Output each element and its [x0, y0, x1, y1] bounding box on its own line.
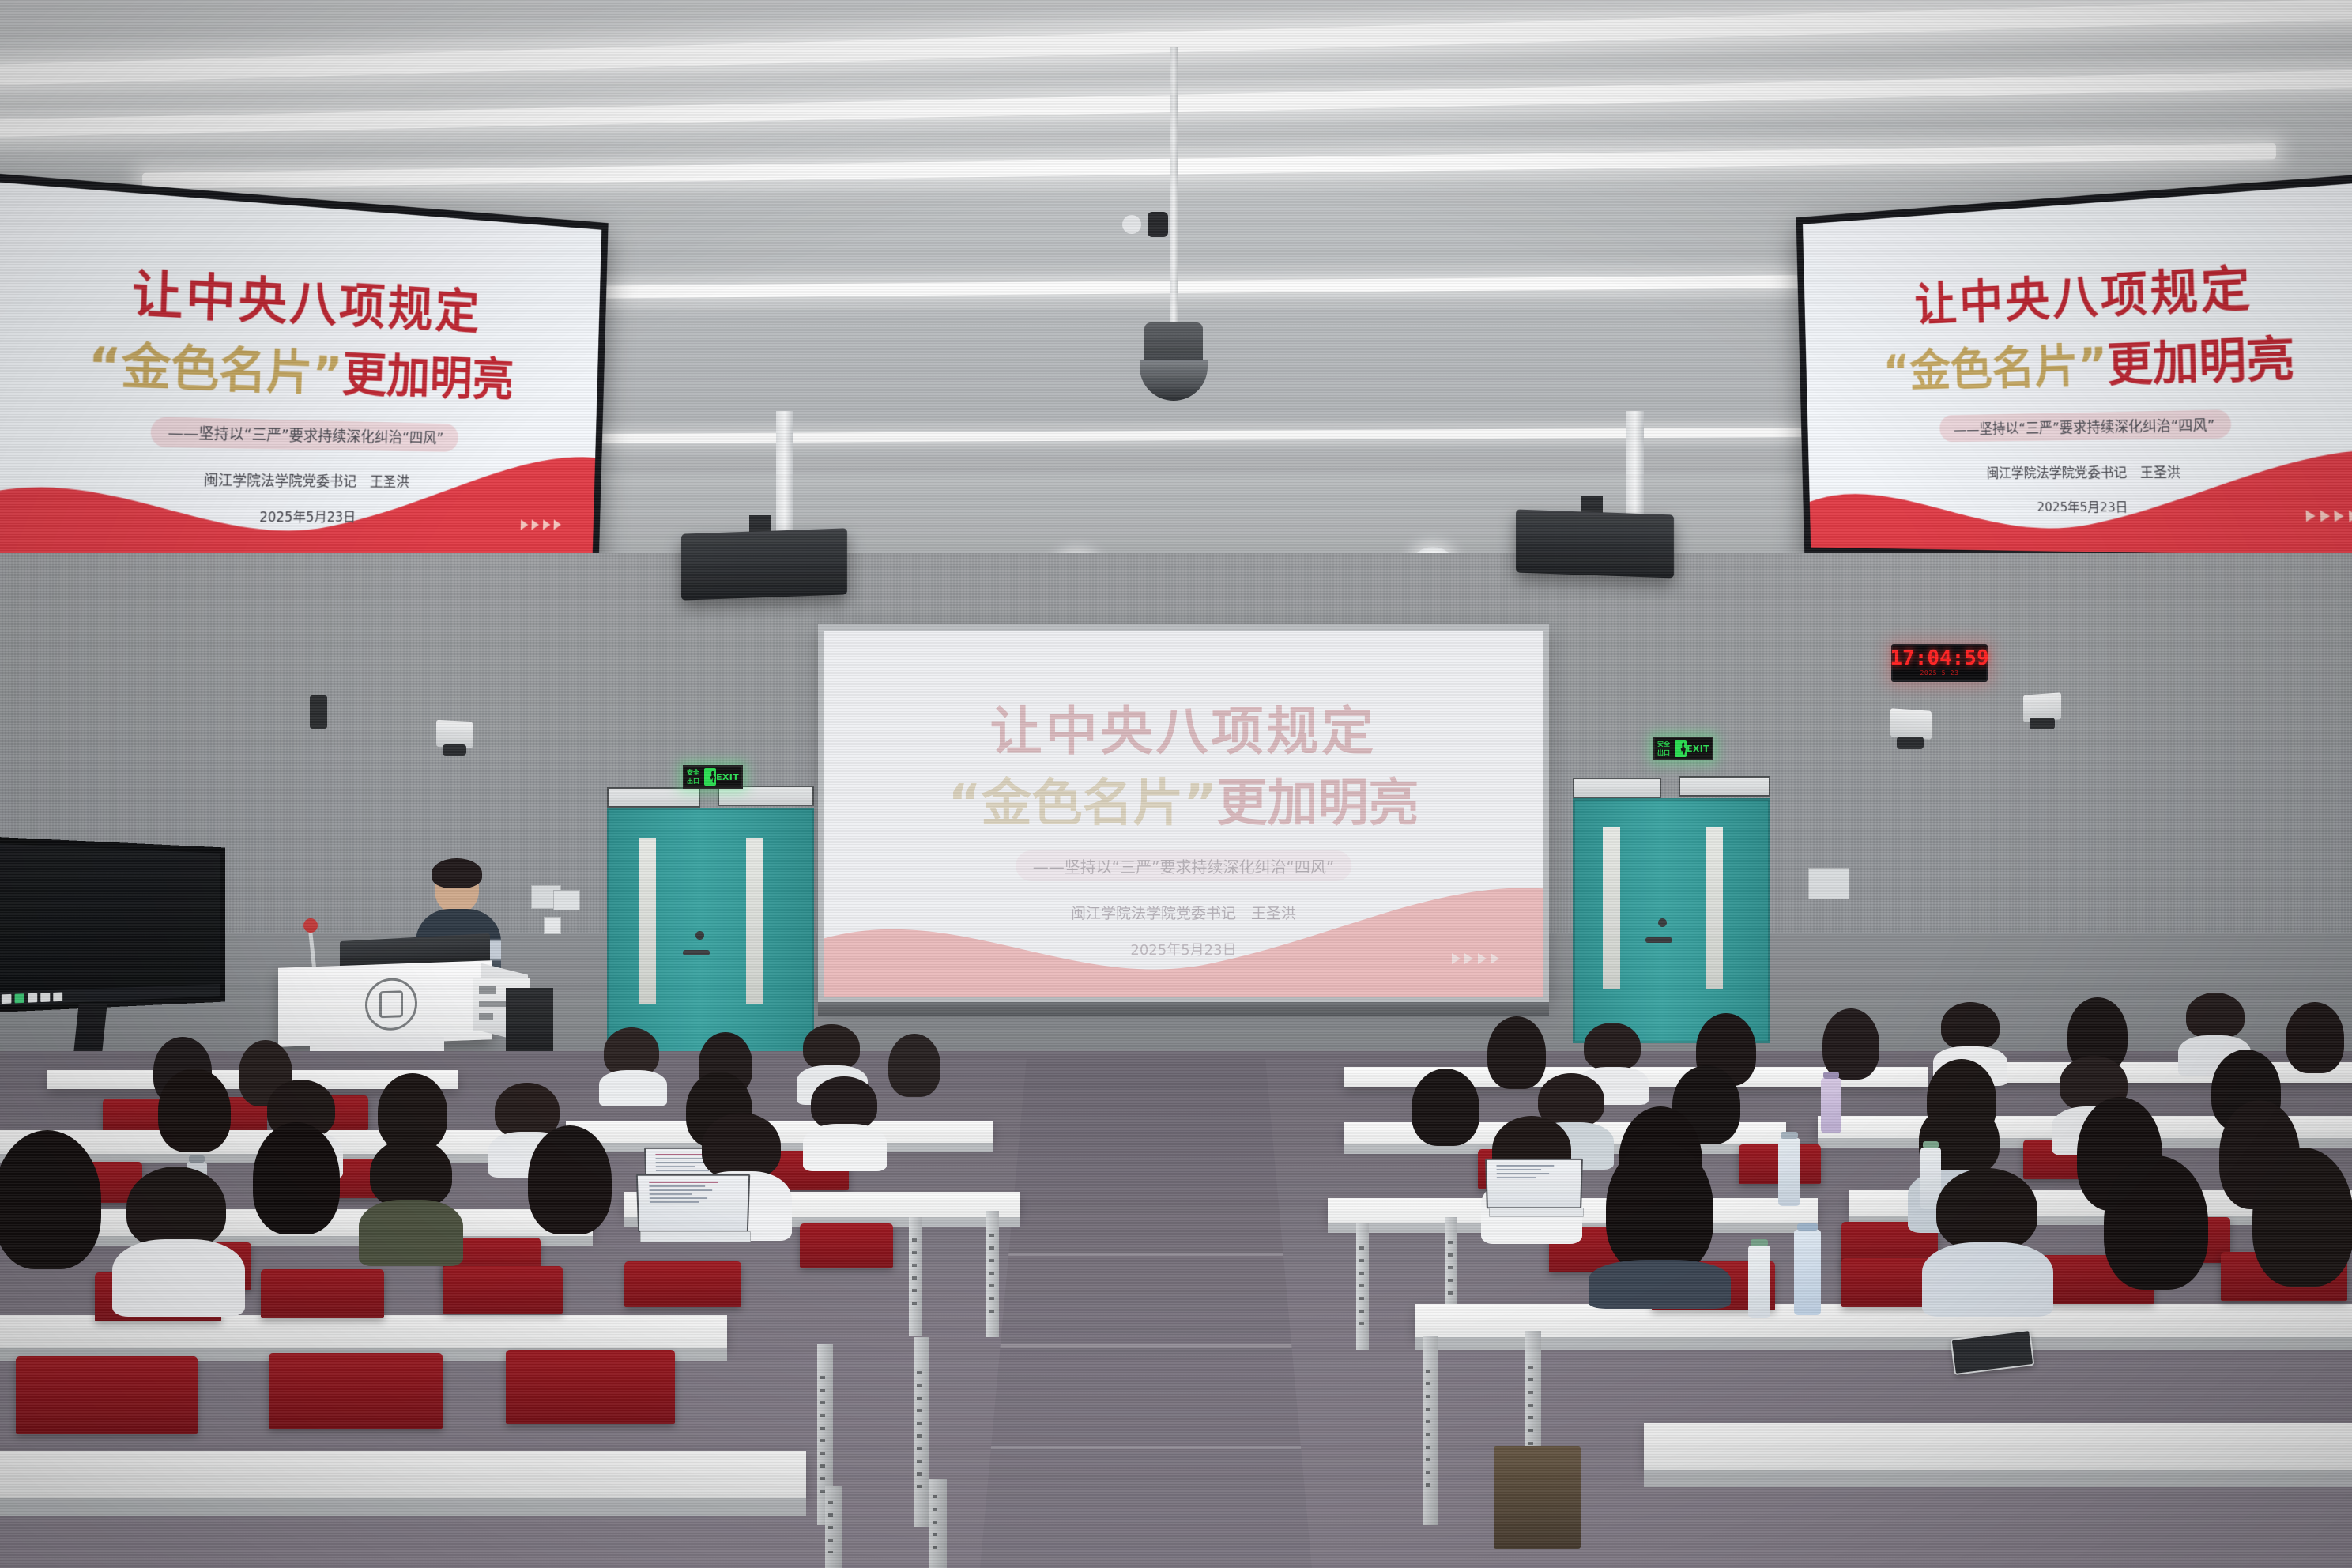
slide-subtitle-projected: ——坚持以“三严”要求持续深化纠治“四风” — [1016, 850, 1351, 881]
slide-title-line1-projected: 让中央八项规定 — [824, 689, 1543, 765]
wall-outlet-plate-2[interactable] — [544, 917, 561, 934]
laptop-screen-text — [1496, 1165, 1571, 1203]
bottle-cap — [189, 1155, 205, 1163]
door-transom-right-1 — [1573, 778, 1661, 798]
bottle-cap — [1823, 1072, 1839, 1079]
chair[interactable] — [506, 1350, 675, 1424]
aisle-step-1 — [986, 1344, 1305, 1347]
chair[interactable] — [800, 1223, 893, 1268]
person-hair — [2252, 1148, 2352, 1287]
exit-sign-left: 安全出口 EXIT — [683, 765, 743, 789]
door-lock-left[interactable] — [695, 931, 704, 940]
person-hair — [1936, 1168, 2037, 1250]
desk-leg — [986, 1211, 999, 1337]
running-man-icon-right — [1675, 740, 1687, 757]
laptop-keyboard[interactable] — [640, 1231, 751, 1242]
slide-date-left: 2025年5月23日 — [0, 506, 594, 527]
slide-right: 让中央八项规定 “金色名片”更加明亮 ——坚持以“三严”要求持续深化纠治“四风”… — [1803, 181, 2352, 557]
ceiling-mount-pole — [1170, 47, 1178, 364]
desk-leg — [1423, 1336, 1438, 1525]
slide-left: 让中央八项规定 “金色名片”更加明亮 ——坚持以“三严”要求持续深化纠治“四风”… — [0, 181, 601, 567]
ceiling-projector-left — [681, 528, 847, 600]
person-hair — [2286, 1002, 2344, 1073]
laptop-keyboard[interactable] — [1489, 1208, 1584, 1217]
exit-sign-left-label: EXIT — [716, 772, 739, 782]
person-hair — [1941, 1002, 2000, 1050]
person-hair — [370, 1138, 452, 1208]
wall-panel-right[interactable] — [1808, 868, 1849, 899]
wall-display-right[interactable]: 让中央八项规定 “金色名片”更加明亮 ——坚持以“三严”要求持续深化纠治“四风”… — [1796, 171, 2352, 566]
taskbar-icon-4[interactable] — [40, 993, 50, 1002]
person-body — [1589, 1260, 1731, 1309]
slide-date-projected: 2025年5月23日 — [824, 939, 1543, 959]
laptop-screen-text — [649, 1182, 737, 1225]
desk-edge — [0, 1498, 806, 1516]
chair[interactable] — [261, 1269, 384, 1318]
door-transom-left-1 — [607, 787, 700, 808]
desk-leg — [929, 1479, 947, 1568]
audience-person — [2281, 1002, 2349, 1081]
left-tv-taskbar[interactable] — [0, 984, 220, 1005]
presenter-hair — [432, 858, 482, 888]
interactive-display-left-wall[interactable] — [0, 837, 225, 1013]
person-body — [112, 1239, 245, 1317]
wall-camera-right — [1897, 737, 1924, 749]
audience-person — [1407, 1069, 1486, 1165]
slide-gold-text-left: “金色名片” — [87, 337, 343, 402]
projection-screen: 让中央八项规定 “金色名片”更加明亮 ——坚持以“三严”要求持续深化纠治“四风”… — [818, 624, 1549, 1004]
audience-person — [522, 1125, 620, 1255]
door-glass-right-2 — [1706, 827, 1723, 989]
slide-red-text-right: 更加明亮 — [2107, 331, 2296, 393]
water-bottle[interactable] — [1748, 1246, 1770, 1318]
chair[interactable] — [443, 1266, 563, 1314]
person-hair — [604, 1027, 659, 1076]
slide-presenter-projected: 闽江学院法学院党委书记 王圣洪 — [824, 902, 1543, 923]
university-emblem-icon — [365, 978, 417, 1031]
taskbar-icon-1[interactable] — [2, 993, 12, 1003]
classroom-door-left[interactable] — [607, 808, 814, 1059]
person-hair — [888, 1034, 940, 1097]
person-hair — [126, 1167, 226, 1249]
audience-person — [119, 1167, 237, 1310]
laptop[interactable] — [637, 1174, 754, 1242]
chair[interactable] — [269, 1353, 443, 1429]
slide-triangle-decor-left — [520, 519, 561, 530]
laptop-screen — [636, 1174, 750, 1232]
ceiling-camera-icon — [1148, 212, 1168, 237]
running-man-icon-left — [704, 768, 716, 786]
person-hair — [811, 1076, 877, 1130]
person-hair — [702, 1113, 781, 1179]
aisle-step-2 — [967, 1445, 1325, 1449]
bottle-cap — [1781, 1132, 1797, 1139]
ceiling-light-strip-3 — [142, 143, 2276, 189]
bottle-cap — [1923, 1141, 1939, 1148]
ceiling-projector-right — [1516, 510, 1674, 579]
digital-wall-clock: 17:04:59 2025 5 23 — [1891, 644, 1988, 682]
wall-camera-far-right — [2030, 718, 2055, 729]
person-body — [359, 1200, 463, 1266]
slide-triangle-decor-right — [2306, 511, 2352, 522]
person-hair — [1584, 1023, 1641, 1070]
slide-gold-text-right: “金色名片” — [1883, 338, 2108, 398]
person-hair — [1412, 1069, 1479, 1146]
exit-sign-right-cn-label: 安全出口 — [1657, 740, 1675, 757]
laptop-screen — [1485, 1159, 1583, 1208]
desk-front-right — [1644, 1423, 2352, 1470]
person-hair — [0, 1130, 101, 1269]
door-lock-right[interactable] — [1658, 918, 1667, 927]
wall-camera-left — [443, 744, 466, 756]
center-aisle — [980, 1059, 1312, 1568]
laptop[interactable] — [1486, 1159, 1587, 1217]
wall-speaker-right — [1890, 708, 1932, 740]
slide-presenter-right: 闽江学院法学院党委书记 王圣洪 — [1809, 459, 2352, 482]
slide-red-text-projected: 更加明亮 — [1217, 775, 1419, 833]
person-body — [599, 1070, 667, 1106]
wall-bracket-left — [310, 695, 327, 729]
projection-screen-bottom-bar — [818, 1002, 1549, 1016]
door-handle-right[interactable] — [1645, 937, 1672, 943]
water-bottle[interactable] — [1821, 1078, 1841, 1133]
slide-subtitle-left: ——坚持以“三严”要求持续深化纠治“四风” — [150, 416, 458, 451]
audience-person — [152, 1069, 236, 1168]
water-bottle[interactable] — [1778, 1138, 1800, 1206]
clock-date: 2025 5 23 — [1920, 669, 1958, 677]
audience-person — [885, 1034, 945, 1103]
slide-triangle-decor-projected — [1452, 953, 1500, 964]
desk-edge — [1644, 1470, 2352, 1487]
slide-gold-text-projected: “金色名片” — [948, 775, 1216, 833]
exit-sign-left-cn-label: 安全出口 — [687, 768, 704, 786]
aisle-step-3 — [1007, 1253, 1286, 1256]
audience-person — [2245, 1148, 2352, 1306]
wall-outlet-plate-1[interactable] — [553, 890, 580, 910]
exit-sign-right: 安全出口 EXIT — [1653, 737, 1713, 760]
person-body — [803, 1124, 887, 1171]
clock-time: 17:04:59 — [1890, 648, 1988, 669]
door-transom-right-2 — [1679, 776, 1770, 797]
water-bottle[interactable] — [1794, 1230, 1821, 1315]
emblem-inner-mark — [379, 990, 403, 1018]
lecture-hall-scene: 让中央八项规定 “金色名片”更加明亮 ——坚持以“三严”要求持续深化纠治“四风”… — [0, 0, 2352, 1568]
desk-leg — [1356, 1223, 1369, 1350]
left-tv-screen — [0, 844, 220, 1006]
bottle-cap — [1797, 1223, 1818, 1231]
taskbar-icon-2[interactable] — [15, 993, 24, 1003]
bottle-cap — [1751, 1239, 1767, 1246]
person-hair — [528, 1125, 612, 1234]
person-body — [1922, 1242, 2053, 1317]
slide-title-line2-projected: “金色名片”更加明亮 — [824, 763, 1543, 835]
chair[interactable] — [16, 1356, 198, 1434]
chair[interactable] — [624, 1261, 741, 1307]
classroom-door-right[interactable] — [1573, 798, 1770, 1043]
person-hair — [1822, 1008, 1879, 1080]
slide-red-text-left: 更加明亮 — [341, 348, 514, 408]
audience-person — [1596, 1141, 1723, 1304]
audience-person — [364, 1138, 458, 1263]
projection-screen-surface: 让中央八项规定 “金色名片”更加明亮 ——坚持以“三严”要求持续深化纠治“四风”… — [824, 631, 1543, 997]
audience-person — [245, 1122, 346, 1255]
person-hair — [253, 1122, 340, 1234]
slide-projected: 让中央八项规定 “金色名片”更加明亮 ——坚持以“三严”要求持续深化纠治“四风”… — [824, 631, 1543, 997]
ceiling-light-strip-5 — [443, 427, 1944, 444]
audience-person — [2094, 1155, 2218, 1310]
desk-leg — [909, 1217, 922, 1336]
exit-sign-right-label: EXIT — [1687, 744, 1709, 754]
ceiling-sensor-icon — [1122, 215, 1141, 234]
door-handle-left[interactable] — [683, 950, 710, 955]
person-hair — [158, 1069, 231, 1152]
desk-leg — [914, 1337, 929, 1527]
person-hair — [2104, 1155, 2208, 1290]
taskbar-icon-3[interactable] — [28, 993, 37, 1002]
door-glass-left-1 — [639, 838, 656, 1004]
wall-display-left[interactable]: 让中央八项规定 “金色名片”更加明亮 ——坚持以“三严”要求持续深化纠治“四风”… — [0, 171, 609, 576]
desk-leg — [825, 1486, 842, 1568]
desk-front-left — [0, 1451, 806, 1498]
paper-bag[interactable] — [1494, 1446, 1581, 1549]
audience-person — [806, 1076, 884, 1170]
desk-edge — [1415, 1337, 2352, 1350]
slide-subtitle-right: ——坚持以“三严”要求持续深化纠治“四风” — [1939, 409, 2232, 442]
person-hair — [1606, 1141, 1713, 1274]
person-hair — [2186, 993, 2245, 1038]
audience-person — [1928, 1168, 2047, 1310]
taskbar-icon-5[interactable] — [53, 992, 62, 1001]
door-glass-right-1 — [1603, 827, 1620, 989]
microphone-head-icon — [303, 918, 318, 933]
door-glass-left-2 — [746, 838, 763, 1004]
audience-person — [601, 1027, 664, 1102]
audience-person — [0, 1130, 111, 1288]
person-hair — [803, 1024, 860, 1070]
lectern — [278, 960, 492, 1046]
